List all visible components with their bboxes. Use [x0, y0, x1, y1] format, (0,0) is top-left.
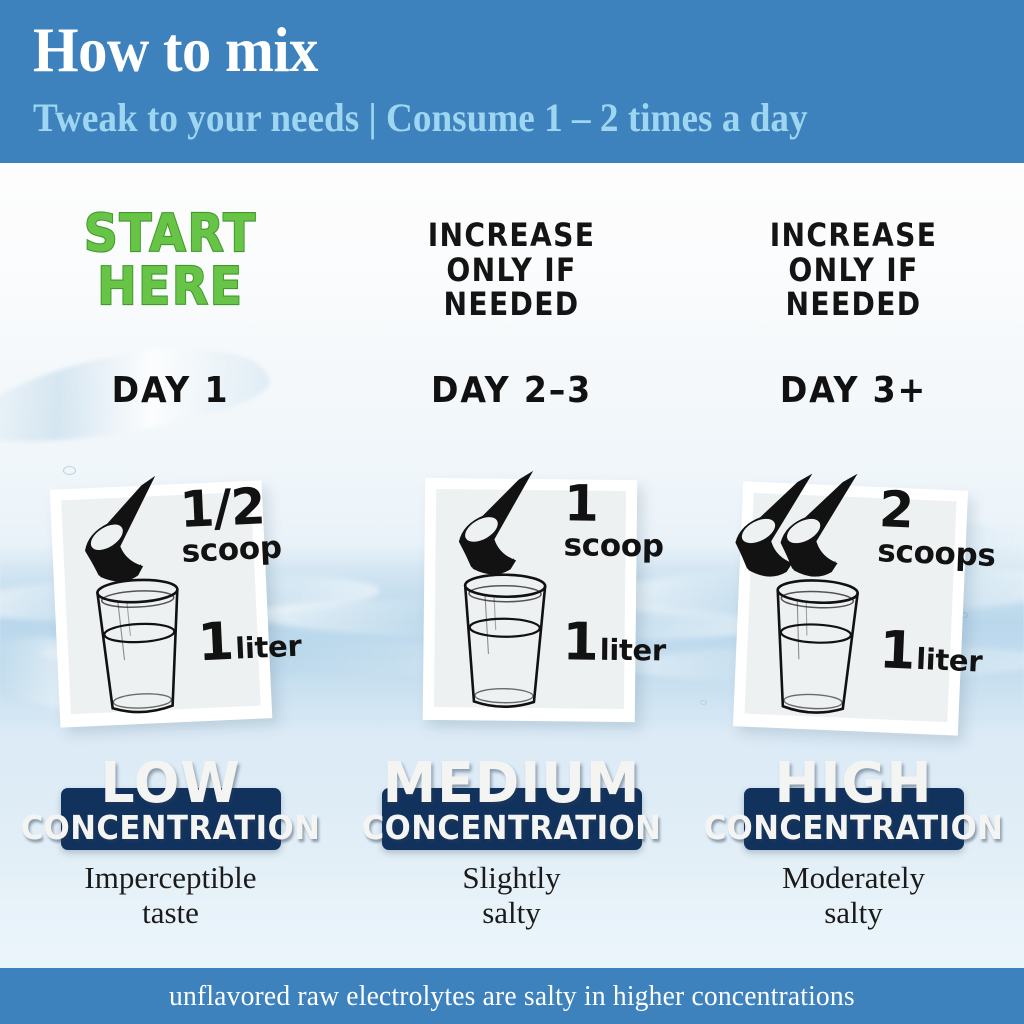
- water-unit: liter: [235, 633, 302, 664]
- card-frame: 2 scoops: [733, 481, 968, 735]
- concentration-badge-2: MEDIUM CONCENTRATION Slightlysalty: [341, 756, 682, 886]
- scoop-unit: scoops: [877, 537, 996, 571]
- concentration-word: CONCENTRATION: [695, 811, 1012, 844]
- concentration-word: CONCENTRATION: [353, 811, 670, 844]
- concentration-word: CONCENTRATION: [12, 811, 329, 844]
- taste-description: Moderatelysalty: [683, 861, 1024, 930]
- scoop-amount-1: 1/2 scoop: [179, 483, 283, 567]
- increase-note-label: INCREASEONLY IFNEEDED: [361, 218, 661, 322]
- dosage-card-1: 1/2 scoop: [50, 480, 273, 727]
- water-number: 1: [562, 618, 598, 668]
- header-banner: How to mix Tweak to your needs | Consume…: [0, 0, 1024, 163]
- concentration-level: HIGH: [690, 756, 1017, 812]
- card-face: 1 scoop: [434, 489, 626, 709]
- concentration-level: MEDIUM: [348, 756, 675, 812]
- day-label: DAY 1: [14, 370, 328, 411]
- page-subtitle: Tweak to your needs | Consume 1 – 2 time…: [33, 98, 808, 138]
- water-glass-icon: [81, 573, 200, 728]
- footer-note: unflavored raw electrolytes are salty in…: [169, 980, 855, 1013]
- water-glass-icon: [756, 573, 874, 728]
- water-glass-icon: [448, 569, 562, 720]
- water-number: 1: [197, 618, 234, 669]
- infographic-root: How to mix Tweak to your needs | Consume…: [0, 0, 1024, 1024]
- dosage-card-2: 1 scoop: [423, 478, 638, 722]
- scoop-amount-2: 1 scoop: [563, 480, 664, 561]
- start-here-line-1: START: [84, 204, 257, 264]
- scoop-number: 1: [564, 480, 665, 529]
- water-number: 1: [878, 626, 915, 677]
- card-frame: 1 scoop: [423, 478, 638, 722]
- concentration-badge-1: LOW CONCENTRATION Imperceptibletaste: [0, 756, 341, 886]
- card-face: 1/2 scoop: [61, 492, 261, 714]
- scoop-unit: scoop: [181, 533, 282, 567]
- scoop-unit: scoop: [563, 531, 663, 561]
- increase-note-label: INCREASEONLY IFNEEDED: [703, 218, 1003, 322]
- column-day-1: START HERE DAY 1 1/: [0, 168, 341, 928]
- column-day-2-3: INCREASEONLY IFNEEDED DAY 2–3 1: [341, 168, 682, 928]
- start-here-line-2: HERE: [97, 257, 243, 317]
- dosage-card-3: 2 scoops: [733, 481, 968, 735]
- day-label: DAY 3+: [697, 370, 1011, 411]
- concentration-level: LOW: [7, 756, 334, 812]
- column-day-3-plus: INCREASEONLY IFNEEDED DAY 3+: [683, 168, 1024, 928]
- taste-description: Slightlysalty: [341, 861, 682, 930]
- scoop-number: 2: [878, 486, 998, 538]
- card-frame: 1/2 scoop: [50, 480, 273, 727]
- day-label: DAY 2–3: [355, 370, 669, 411]
- scoop-number: 1/2: [179, 483, 281, 535]
- page-title: How to mix: [33, 19, 318, 82]
- water-unit: liter: [916, 646, 983, 676]
- taste-description: Imperceptibletaste: [0, 861, 341, 930]
- water-amount-1: 1 liter: [197, 615, 303, 669]
- scoop-amount-3: 2 scoops: [877, 486, 999, 571]
- card-face: 2 scoops: [745, 493, 957, 722]
- footer-banner: unflavored raw electrolytes are salty in…: [0, 968, 1024, 1024]
- start-here-label: START HERE: [17, 208, 324, 314]
- water-amount-3: 1 liter: [878, 626, 983, 680]
- concentration-badge-3: HIGH CONCENTRATION Moderatelysalty: [683, 756, 1024, 886]
- water-unit: liter: [600, 637, 667, 665]
- water-amount-2: 1 liter: [562, 618, 666, 668]
- header-divider: [0, 163, 1024, 166]
